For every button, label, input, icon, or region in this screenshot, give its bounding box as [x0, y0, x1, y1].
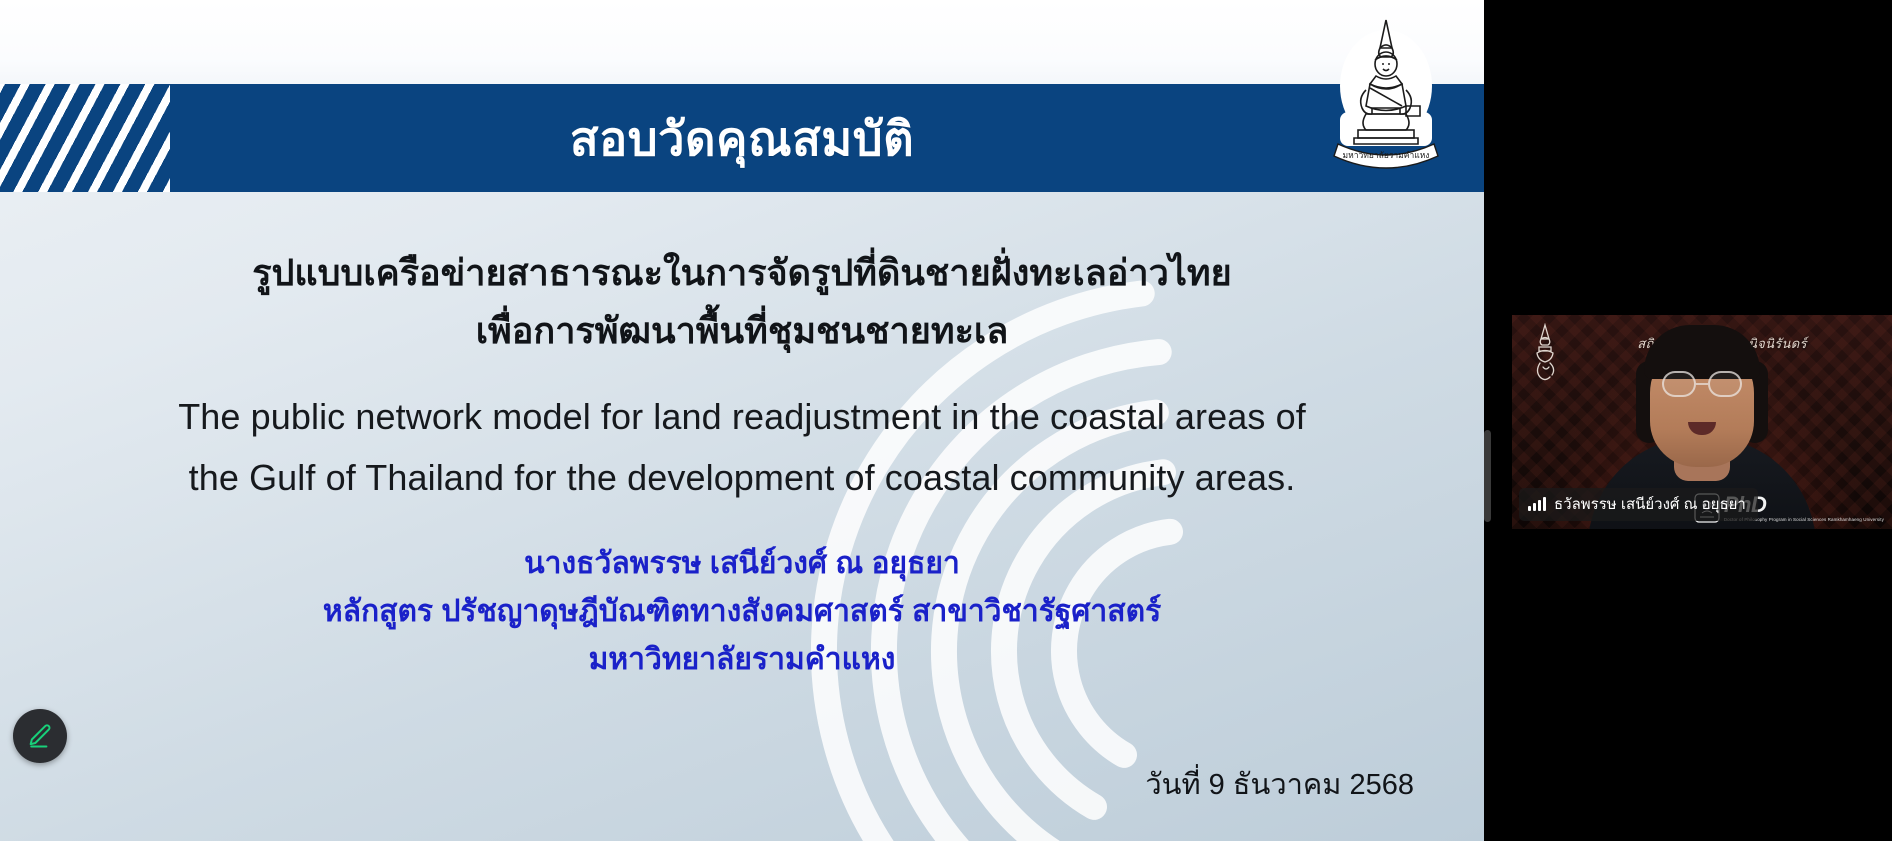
slide-top-strip: [0, 0, 1484, 84]
glasses-right-lens: [1708, 371, 1742, 397]
screen: สอบวัดคุณสมบัติ: [0, 0, 1892, 841]
university-seal-logo: มหาวิทยาลัยรามคำแหง: [1324, 8, 1448, 174]
banner-title: สอบวัดคุณสมบัติ: [570, 115, 914, 162]
slide-title-thai-line1: รูปแบบเครือข่ายสาธารณะในการจัดรูปที่ดินช…: [0, 250, 1484, 296]
annotate-button[interactable]: [13, 709, 67, 763]
glasses-left-lens: [1662, 371, 1696, 397]
slide-title-english-line1: The public network model for land readju…: [0, 394, 1484, 441]
participant-name-chip: ธวัลพรรษ เสนีย์วงศ์ ณ อยุธยา: [1519, 488, 1758, 521]
slide-content: รูปแบบเครือข่ายสาธารณะในการจัดรูปที่ดินช…: [0, 192, 1484, 841]
participant-video-tile[interactable]: สถิตในดวงใจตราบนิจนิรันดร์: [1512, 315, 1892, 529]
slide-title-thai-line2: เพื่อการพัฒนาพื้นที่ชุมชนชายทะเล: [0, 308, 1484, 354]
slide-banner: สอบวัดคุณสมบัติ: [0, 84, 1484, 192]
signal-bars-icon: [1528, 497, 1546, 511]
pencil-icon: [26, 722, 54, 750]
slide-university: มหาวิทยาลัยรามคำแหง: [0, 640, 1484, 680]
slide-date: วันที่ 9 ธันวาคม 2568: [1145, 761, 1414, 807]
slide-title-english-line2: the Gulf of Thailand for the development…: [0, 455, 1484, 502]
banner-stripes-decor: [0, 84, 170, 192]
participant-name: ธวัลพรรษ เสนีย์วงศ์ ณ อยุธยา: [1554, 492, 1746, 516]
scrollbar-thumb[interactable]: [1484, 430, 1491, 522]
slide-program: หลักสูตร ปรัชญาดุษฎีบัณฑิตทางสังคมศาสตร์…: [0, 592, 1484, 632]
seal-caption: มหาวิทยาลัยรามคำแหง: [1343, 150, 1430, 160]
slide-author: นางธวัลพรรษ เสนีย์วงศ์ ณ อยุธยา: [0, 544, 1484, 584]
shared-slide: สอบวัดคุณสมบัติ: [0, 0, 1484, 841]
